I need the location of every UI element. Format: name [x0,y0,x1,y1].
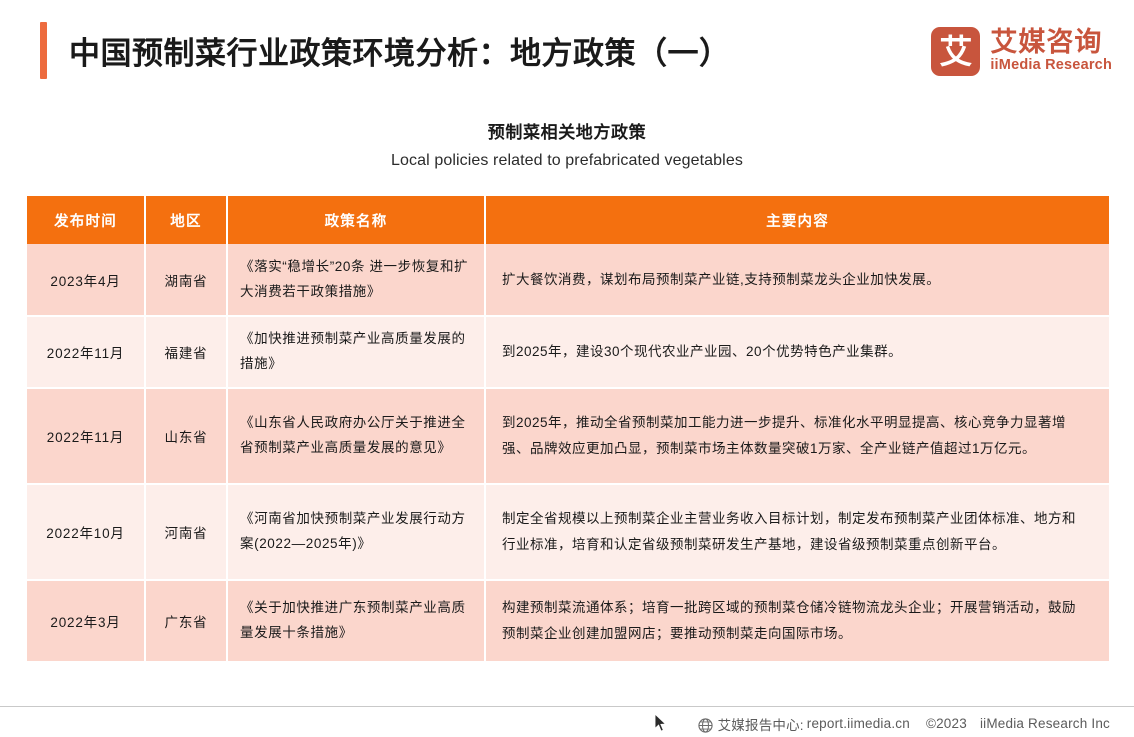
cell-content: 扩大餐饮消费，谋划布局预制菜产业链,支持预制菜龙头企业加快发展。 [485,244,1109,316]
cell-region: 山东省 [145,388,227,484]
cell-content: 制定全省规模以上预制菜企业主营业务收入目标计划，制定发布预制菜产业团体标准、地方… [485,484,1109,580]
policy-table: 发布时间 地区 政策名称 主要内容 2023年4月 湖南省 《落实“稳增长”20… [27,196,1109,663]
cell-date: 2022年11月 [27,316,145,388]
cell-content: 构建预制菜流通体系；培育一批跨区域的预制菜仓储冷链物流龙头企业；开展营销活动，鼓… [485,580,1109,662]
cell-region: 湖南省 [145,244,227,316]
footer-divider [0,706,1134,707]
title-wrap: 中国预制菜行业政策环境分析：地方政策（一） [40,19,731,81]
logo-name-en: iiMedia Research [990,58,1112,74]
cell-date: 2023年4月 [27,244,145,316]
chart-title: 预制菜相关地方政策 [0,118,1134,143]
footer-copyright: ©2023 [926,716,967,731]
chart-subtitle: Local policies related to prefabricated … [0,152,1134,170]
cell-content: 到2025年，建设30个现代农业产业园、20个优势特色产业集群。 [485,316,1109,388]
cell-name: 《加快推进预制菜产业高质量发展的措施》 [227,316,485,388]
cell-name: 《河南省加快预制菜产业发展行动方案(2022—2025年)》 [227,484,485,580]
table-row: 2022年11月 福建省 《加快推进预制菜产业高质量发展的措施》 到2025年，… [27,316,1109,388]
slide-page: 中国预制菜行业政策环境分析：地方政策（一） 艾 艾媒咨询 iiMedia Res… [0,0,1134,737]
table-head: 发布时间 地区 政策名称 主要内容 [27,196,1109,244]
page-title: 中国预制菜行业政策环境分析：地方政策（一） [69,28,731,73]
footer-url: report.iimedia.cn [807,716,910,731]
policy-table-wrap: 发布时间 地区 政策名称 主要内容 2023年4月 湖南省 《落实“稳增长”20… [27,196,1109,663]
table-body: 2023年4月 湖南省 《落实“稳增长”20条 进一步恢复和扩大消费若干政策措施… [27,244,1109,662]
table-header-row: 发布时间 地区 政策名称 主要内容 [27,196,1109,244]
logo-name-cn: 艾媒咨询 [990,28,1112,57]
globe-icon [698,718,713,733]
column-header-name: 政策名称 [227,196,485,244]
cell-region: 河南省 [145,484,227,580]
cell-name: 《山东省人民政府办公厅关于推进全省预制菜产业高质量发展的意见》 [227,388,485,484]
title-accent-bar [40,22,47,79]
logo-mark-glyph: 艾 [939,35,972,68]
cell-region: 福建省 [145,316,227,388]
footer-company: iiMedia Research Inc [980,716,1110,731]
table-row: 2023年4月 湖南省 《落实“稳增长”20条 进一步恢复和扩大消费若干政策措施… [27,244,1109,316]
cell-name: 《落实“稳增长”20条 进一步恢复和扩大消费若干政策措施》 [227,244,485,316]
table-row: 2022年10月 河南省 《河南省加快预制菜产业发展行动方案(2022—2025… [27,484,1109,580]
column-header-content: 主要内容 [485,196,1109,244]
cell-name: 《关于加快推进广东预制菜产业高质量发展十条措施》 [227,580,485,662]
logo-text: 艾媒咨询 iiMedia Research [990,28,1112,74]
cell-region: 广东省 [145,580,227,662]
cell-date: 2022年3月 [27,580,145,662]
footer-report-center: 艾媒报告中心: [718,714,804,734]
column-header-date: 发布时间 [27,196,145,244]
cell-date: 2022年11月 [27,388,145,484]
cell-date: 2022年10月 [27,484,145,580]
page-footer: 艾媒报告中心: report.iimedia.cn ©2023 iiMedia … [0,710,1134,737]
column-header-region: 地区 [145,196,227,244]
table-row: 2022年3月 广东省 《关于加快推进广东预制菜产业高质量发展十条措施》 构建预… [27,580,1109,662]
table-row: 2022年11月 山东省 《山东省人民政府办公厅关于推进全省预制菜产业高质量发展… [27,388,1109,484]
cell-content: 到2025年，推动全省预制菜加工能力进一步提升、标准化水平明显提高、核心竞争力显… [485,388,1109,484]
logo-mark-icon: 艾 [931,27,980,76]
brand-logo: 艾 艾媒咨询 iiMedia Research [931,22,1112,80]
